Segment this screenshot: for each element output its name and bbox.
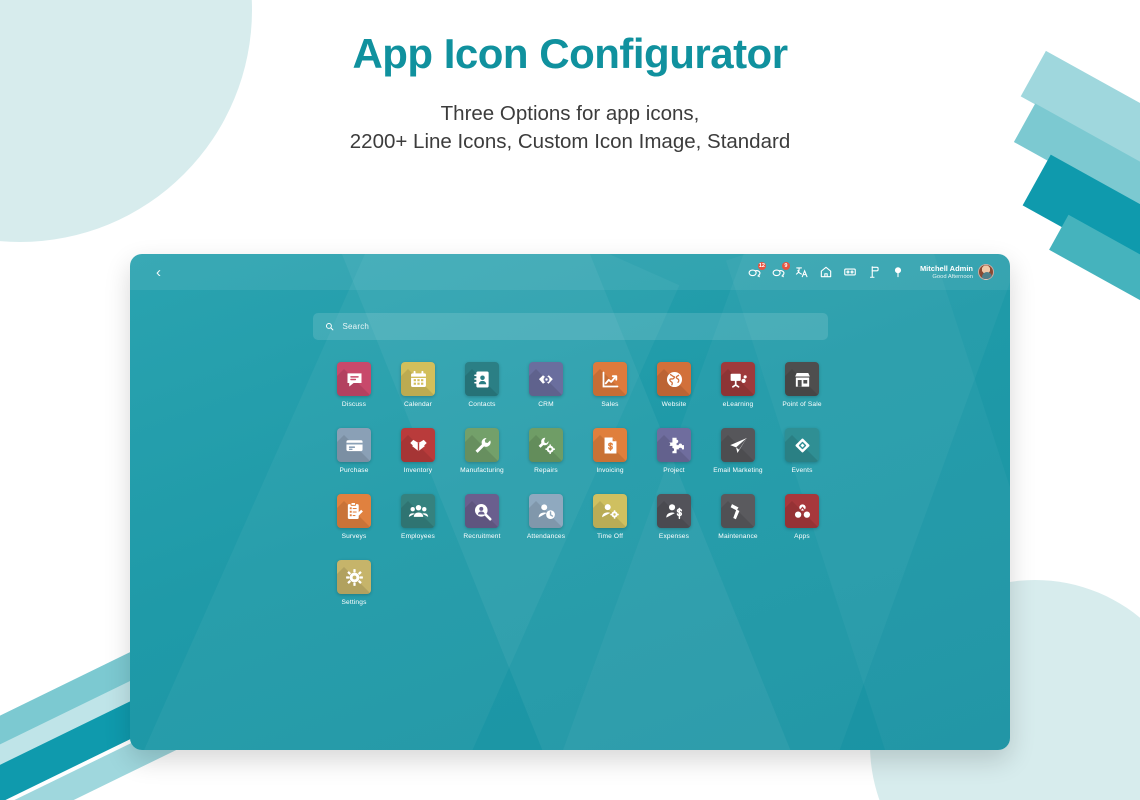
handshake-icon[interactable] <box>529 362 563 396</box>
app-label: Point of Sale <box>782 401 821 409</box>
topbar-right-cluster: 12 9 <box>747 264 994 281</box>
app-tile-purchase[interactable]: Purchase <box>322 428 386 475</box>
app-label: Email Marketing <box>713 467 763 475</box>
app-label: Invoicing <box>596 467 623 475</box>
app-tile-maintenance[interactable]: Maintenance <box>706 494 770 541</box>
search-area: Search <box>130 313 1010 340</box>
translate-icon[interactable] <box>795 265 810 280</box>
window-topbar: ‹ 12 9 <box>130 254 1010 290</box>
page-header: App Icon Configurator Three Options for … <box>0 0 1140 156</box>
app-tile-point-of-sale[interactable]: Point of Sale <box>770 362 834 409</box>
wrench-icon[interactable] <box>465 428 499 462</box>
app-label: Time Off <box>597 533 623 541</box>
app-label: Employees <box>401 533 435 541</box>
messages-icon[interactable]: 12 <box>747 265 762 280</box>
app-label: Manufacturing <box>460 467 504 475</box>
search-input[interactable]: Search <box>313 313 828 340</box>
app-label: Expenses <box>659 533 689 541</box>
home-icon[interactable] <box>819 265 834 280</box>
app-window: ‹ 12 9 <box>130 254 1010 750</box>
app-label: CRM <box>538 401 553 409</box>
page-title: App Icon Configurator <box>0 30 1140 78</box>
app-tile-time-off[interactable]: Time Off <box>578 494 642 541</box>
user-name: Mitchell Admin <box>920 264 973 273</box>
search-icon <box>325 322 334 331</box>
user-text: Mitchell Admin Good Afternoon <box>920 264 973 281</box>
app-tile-surveys[interactable]: Surveys <box>322 494 386 541</box>
bug-icon[interactable] <box>867 265 882 280</box>
app-label: Repairs <box>534 467 558 475</box>
app-tile-invoicing[interactable]: Invoicing <box>578 428 642 475</box>
app-label: Calendar <box>404 401 432 409</box>
app-tile-website[interactable]: Website <box>642 362 706 409</box>
avatar[interactable] <box>978 264 994 280</box>
user-menu[interactable]: Mitchell Admin Good Afternoon <box>920 264 994 281</box>
magnifier-person-icon[interactable] <box>465 494 499 528</box>
decor-stripe-top-right-4 <box>1049 215 1140 395</box>
globe-icon[interactable] <box>657 362 691 396</box>
app-label: Surveys <box>342 533 367 541</box>
app-tile-repairs[interactable]: Repairs <box>514 428 578 475</box>
search-placeholder: Search <box>343 322 370 331</box>
app-tile-employees[interactable]: Employees <box>386 494 450 541</box>
contact-card-icon[interactable] <box>465 362 499 396</box>
calendar-icon[interactable] <box>401 362 435 396</box>
page-subtitle-line-2: 2200+ Line Icons, Custom Icon Image, Sta… <box>0 128 1140 156</box>
app-tile-expenses[interactable]: Expenses <box>642 494 706 541</box>
app-tile-apps[interactable]: Apps <box>770 494 834 541</box>
page-root: App Icon Configurator Three Options for … <box>0 0 1140 800</box>
ticket-diamond-icon[interactable] <box>785 428 819 462</box>
open-box-icon[interactable] <box>401 428 435 462</box>
messages-badge: 12 <box>758 262 766 270</box>
app-label: Sales <box>601 401 618 409</box>
app-label: Project <box>663 467 685 475</box>
speech-bubble-icon[interactable] <box>337 362 371 396</box>
store-icon[interactable] <box>785 362 819 396</box>
chart-up-icon[interactable] <box>593 362 627 396</box>
person-gear-icon[interactable] <box>593 494 627 528</box>
app-label: Contacts <box>468 401 495 409</box>
activities-icon[interactable]: 9 <box>771 265 786 280</box>
app-grid: DiscussCalendarContactsCRMSalesWebsiteeL… <box>130 362 1010 607</box>
app-label: Recruitment <box>463 533 500 541</box>
app-label: Purchase <box>339 467 368 475</box>
app-label: Website <box>662 401 687 409</box>
app-tile-elearning[interactable]: eLearning <box>706 362 770 409</box>
person-clock-icon[interactable] <box>529 494 563 528</box>
user-greeting: Good Afternoon <box>920 273 973 281</box>
app-label: Inventory <box>404 467 432 475</box>
hammer-icon[interactable] <box>721 494 755 528</box>
presentation-icon[interactable] <box>721 362 755 396</box>
app-tile-email-marketing[interactable]: Email Marketing <box>706 428 770 475</box>
credit-card-icon[interactable] <box>337 428 371 462</box>
app-label: Apps <box>794 533 810 541</box>
decor-stripe-top-right-3 <box>1023 155 1140 366</box>
page-subtitle: Three Options for app icons, 2200+ Line … <box>0 100 1140 156</box>
app-tile-settings[interactable]: Settings <box>322 560 386 607</box>
puzzle-icon[interactable] <box>657 428 691 462</box>
wrench-gear-icon[interactable] <box>529 428 563 462</box>
page-subtitle-line-1: Three Options for app icons, <box>0 100 1140 128</box>
back-chevron-icon[interactable]: ‹ <box>156 265 161 280</box>
blocks-icon[interactable] <box>785 494 819 528</box>
apps-grid-icon[interactable] <box>843 265 858 280</box>
app-tile-recruitment[interactable]: Recruitment <box>450 494 514 541</box>
clipboard-pen-icon[interactable] <box>337 494 371 528</box>
app-tile-manufacturing[interactable]: Manufacturing <box>450 428 514 475</box>
app-label: Settings <box>341 599 366 607</box>
app-tile-events[interactable]: Events <box>770 428 834 475</box>
person-dollar-icon[interactable] <box>657 494 691 528</box>
app-tile-contacts[interactable]: Contacts <box>450 362 514 409</box>
app-tile-sales[interactable]: Sales <box>578 362 642 409</box>
app-label: Events <box>791 467 812 475</box>
app-tile-project[interactable]: Project <box>642 428 706 475</box>
app-label: Discuss <box>342 401 366 409</box>
lightbulb-icon[interactable] <box>891 265 906 280</box>
people-group-icon[interactable] <box>401 494 435 528</box>
invoice-dollar-icon[interactable] <box>593 428 627 462</box>
activities-badge: 9 <box>782 262 790 270</box>
app-tile-discuss[interactable]: Discuss <box>322 362 386 409</box>
app-label: Maintenance <box>718 533 757 541</box>
app-tile-attendances[interactable]: Attendances <box>514 494 578 541</box>
paper-plane-icon[interactable] <box>721 428 755 462</box>
app-label: eLearning <box>723 401 754 409</box>
app-tile-calendar[interactable]: Calendar <box>386 362 450 409</box>
app-label: Attendances <box>527 533 565 541</box>
gear-icon[interactable] <box>337 560 371 594</box>
app-tile-inventory[interactable]: Inventory <box>386 428 450 475</box>
app-tile-crm[interactable]: CRM <box>514 362 578 409</box>
